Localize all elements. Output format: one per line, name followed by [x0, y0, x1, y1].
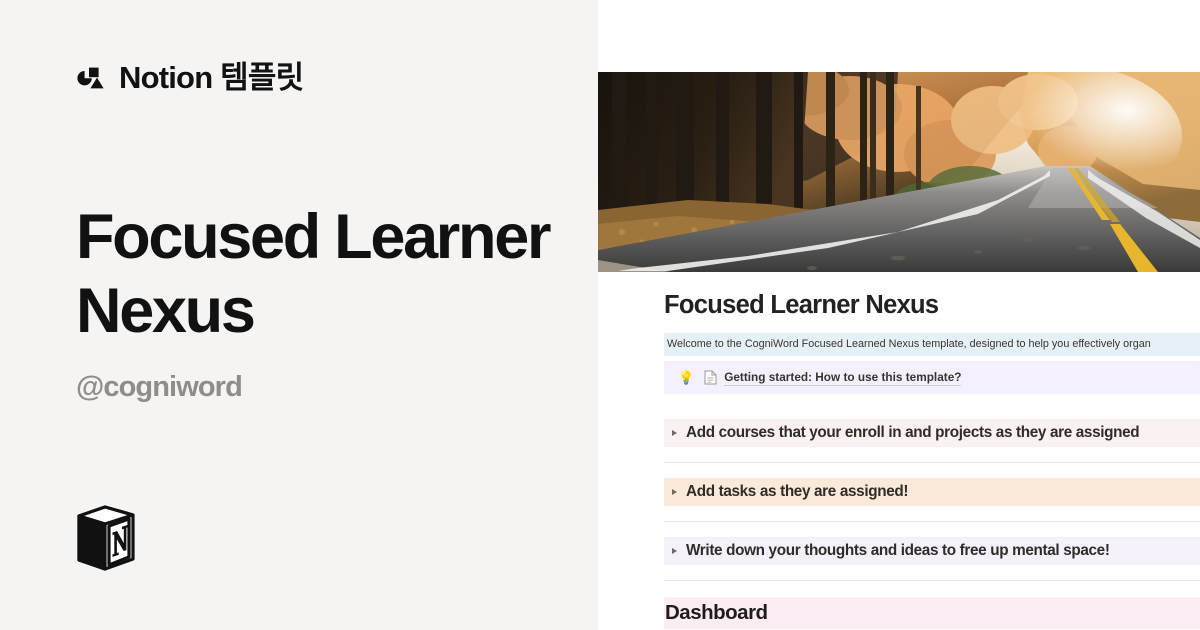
- toggle-list: Add courses that your enroll in and proj…: [598, 419, 1200, 581]
- callout-link-label[interactable]: Getting started: How to use this templat…: [724, 369, 961, 386]
- dashboard-heading: Dashboard: [664, 597, 1200, 629]
- toggle-label: Write down your thoughts and ideas to fr…: [686, 542, 1110, 560]
- left-info-panel: Notion 템플릿 Focused Learner Nexus @cogniw…: [0, 0, 598, 630]
- chevron-right-icon[interactable]: [672, 548, 677, 554]
- toggle-row[interactable]: Write down your thoughts and ideas to fr…: [664, 537, 1200, 565]
- welcome-paragraph: Welcome to the CogniWord Focused Learned…: [664, 333, 1200, 356]
- notion-shapes-logo-icon: [76, 63, 106, 93]
- getting-started-callout[interactable]: 💡 Getting started: How to use this templ…: [664, 361, 1200, 394]
- toggle-label: Add courses that your enroll in and proj…: [686, 424, 1139, 442]
- divider: [664, 521, 1200, 522]
- autumn-forest-road-illustration: [598, 72, 1200, 272]
- chevron-right-icon[interactable]: [672, 489, 677, 495]
- page-title: Focused Learner Nexus: [76, 200, 586, 348]
- document-icon: [704, 370, 717, 385]
- template-title-line1: Focused Learner: [76, 200, 586, 274]
- divider: [664, 580, 1200, 581]
- template-title-line2: Nexus: [76, 274, 586, 348]
- template-author: @cogniword: [76, 371, 242, 404]
- brand-header: Notion 템플릿: [76, 62, 303, 93]
- chevron-right-icon[interactable]: [672, 430, 677, 436]
- notion-page-title: Focused Learner Nexus: [664, 290, 1200, 320]
- template-preview-card: Notion 템플릿 Focused Learner Nexus @cogniw…: [0, 0, 1200, 630]
- notion-page-body: Focused Learner Nexus Welcome to the Cog…: [598, 272, 1200, 630]
- brand-name-label: Notion 템플릿: [119, 62, 303, 93]
- notion-page-preview: Focused Learner Nexus Welcome to the Cog…: [598, 0, 1200, 630]
- lightbulb-icon: 💡: [678, 371, 694, 384]
- cover-image: [598, 72, 1200, 272]
- divider: [664, 462, 1200, 463]
- toggle-label: Add tasks as they are assigned!: [686, 483, 908, 501]
- notion-cube-logo-icon: [75, 502, 137, 572]
- toggle-row[interactable]: Add courses that your enroll in and proj…: [664, 419, 1200, 447]
- toggle-row[interactable]: Add tasks as they are assigned!: [664, 478, 1200, 506]
